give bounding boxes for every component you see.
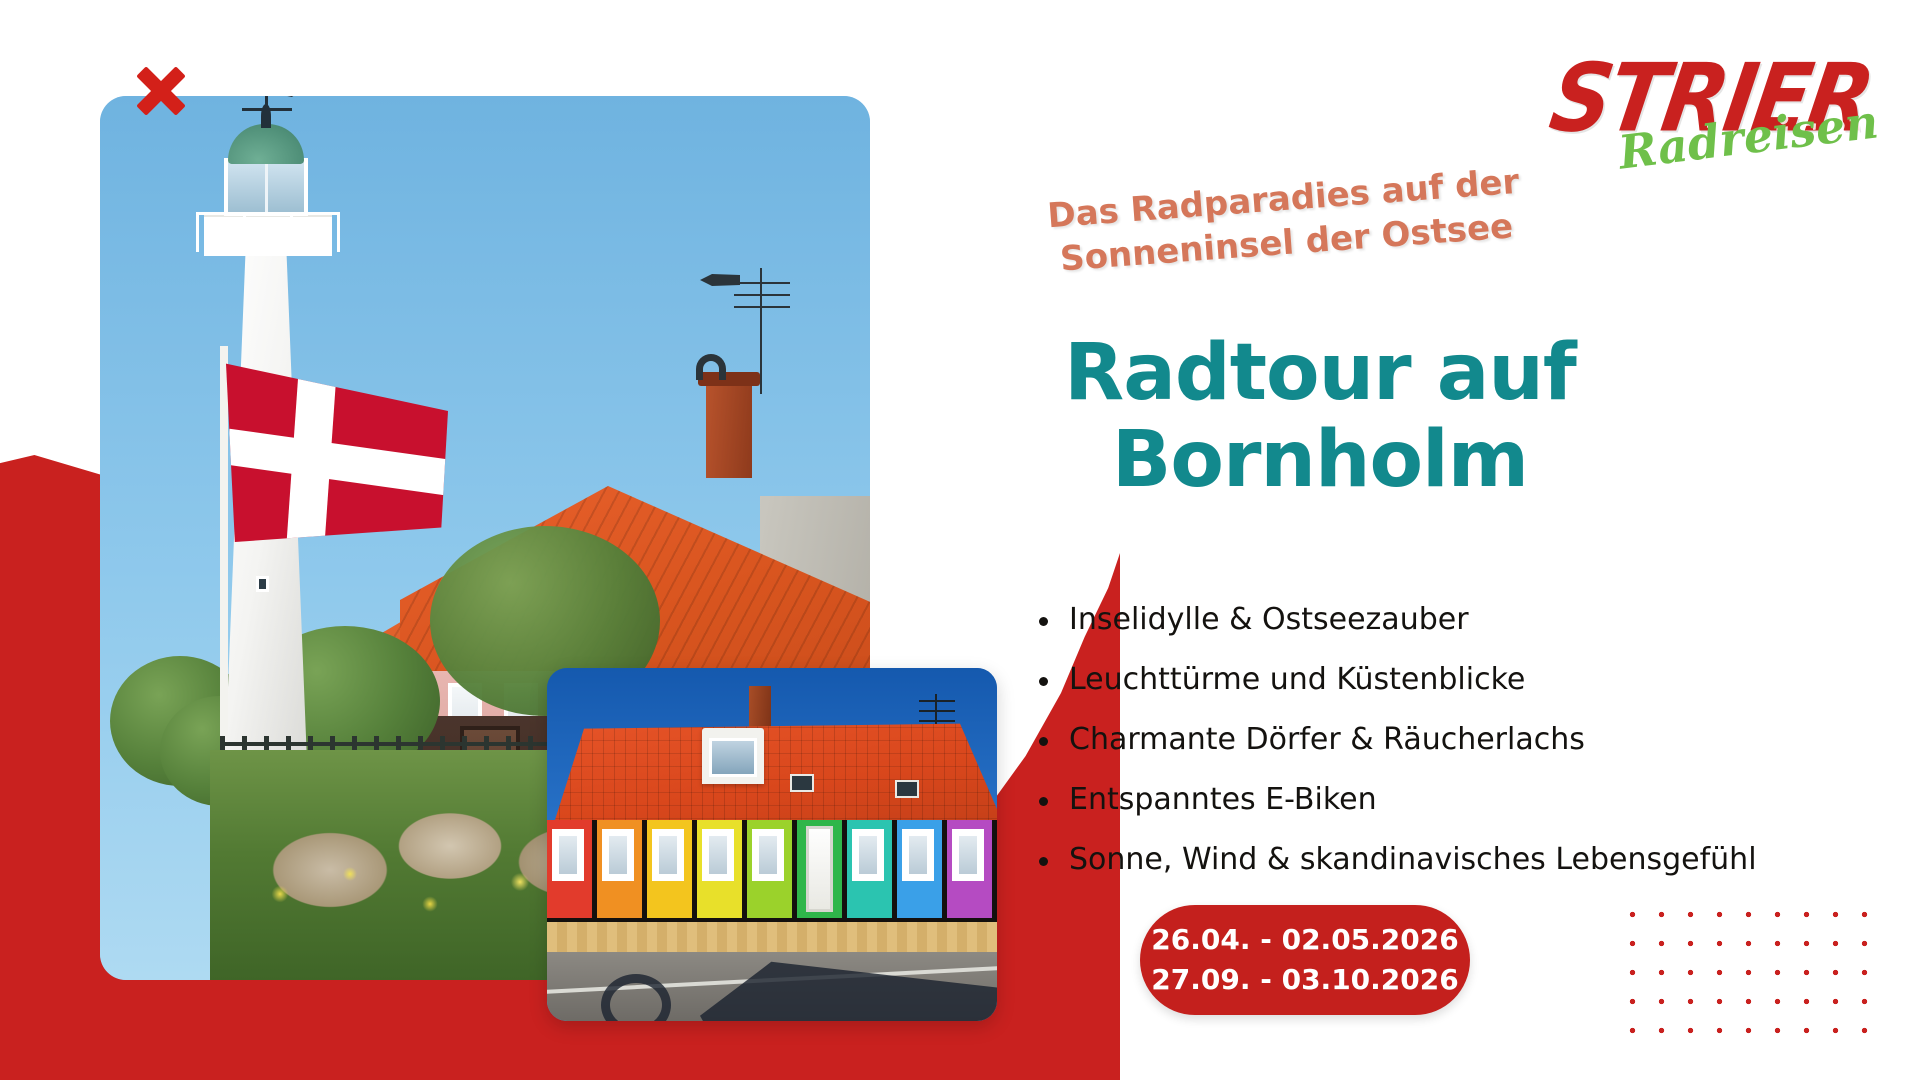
inset-pavement xyxy=(547,922,997,952)
dot-grid-decoration xyxy=(1618,900,1880,1050)
date-line-1: 26.04. - 02.05.2026 xyxy=(1151,920,1458,960)
antenna-mast xyxy=(760,268,762,394)
chimney xyxy=(706,382,752,478)
list-item: Charmante Dörfer & Räucherlachs xyxy=(1035,710,1855,770)
poster-canvas: STRIER Radreisen Das Radparadies auf der… xyxy=(0,0,1920,1080)
inset-chimney xyxy=(749,686,771,730)
x-mark-icon xyxy=(133,63,189,119)
title-line-1: Radtour auf xyxy=(960,330,1680,417)
list-item: Sonne, Wind & skandinavisches Lebensgefü… xyxy=(1035,830,1855,890)
inset-skylight-1 xyxy=(790,774,814,792)
title-line-2: Bornholm xyxy=(960,417,1680,504)
list-item: Inselidylle & Ostseezauber xyxy=(1035,590,1855,650)
inset-photo-rainbow-house xyxy=(547,668,997,1021)
lighthouse-railing xyxy=(196,212,340,252)
chimney-pipe xyxy=(696,354,726,380)
inset-dormer-window xyxy=(702,728,764,784)
inset-facade xyxy=(547,820,997,920)
date-line-2: 27.09. - 03.10.2026 xyxy=(1151,960,1458,1000)
inset-skylight-2 xyxy=(895,780,919,798)
feature-list: Inselidylle & Ostseezauber Leuchttürme u… xyxy=(1035,590,1855,890)
inset-road xyxy=(547,952,997,1021)
page-title: Radtour auf Bornholm xyxy=(960,330,1680,505)
weather-vane xyxy=(220,96,312,122)
brand-logo[interactable]: STRIER Radreisen xyxy=(1552,34,1882,162)
lighthouse-lantern xyxy=(224,158,308,216)
list-item: Entspanntes E-Biken xyxy=(1035,770,1855,830)
date-badge[interactable]: 26.04. - 02.05.2026 27.09. - 03.10.2026 xyxy=(1140,905,1470,1015)
list-item: Leuchttürme und Küstenblicke xyxy=(1035,650,1855,710)
tagline: Das Radparadies auf der Sonneninsel der … xyxy=(983,156,1588,287)
